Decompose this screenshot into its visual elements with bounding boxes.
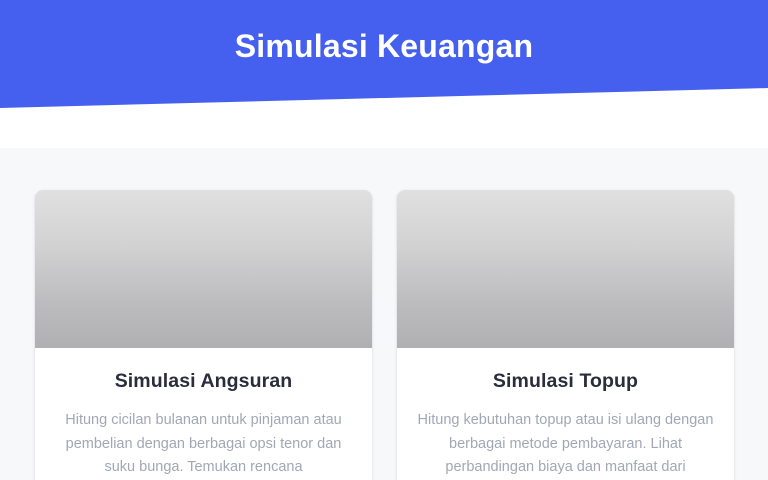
card-body-topup: Simulasi Topup Hitung kebutuhan topup at…	[397, 348, 734, 480]
card-body-angsuran: Simulasi Angsuran Hitung cicilan bulanan…	[35, 348, 372, 480]
card-simulasi-topup[interactable]: Simulasi Topup Hitung kebutuhan topup at…	[397, 190, 734, 480]
page-title: Simulasi Keuangan	[0, 0, 768, 88]
card-simulasi-angsuran[interactable]: Simulasi Angsuran Hitung cicilan bulanan…	[35, 190, 372, 480]
hero-header: Simulasi Keuangan	[0, 0, 768, 148]
card-image-topup	[397, 190, 734, 348]
card-image-angsuran	[35, 190, 372, 348]
card-title-angsuran: Simulasi Angsuran	[53, 370, 354, 393]
card-grid: Simulasi Angsuran Hitung cicilan bulanan…	[0, 148, 768, 480]
main-content: Simulasi Angsuran Hitung cicilan bulanan…	[0, 148, 768, 480]
card-description-angsuran: Hitung cicilan bulanan untuk pinjaman at…	[53, 409, 354, 479]
card-title-topup: Simulasi Topup	[415, 370, 716, 393]
card-description-topup: Hitung kebutuhan topup atau isi ulang de…	[415, 409, 716, 479]
